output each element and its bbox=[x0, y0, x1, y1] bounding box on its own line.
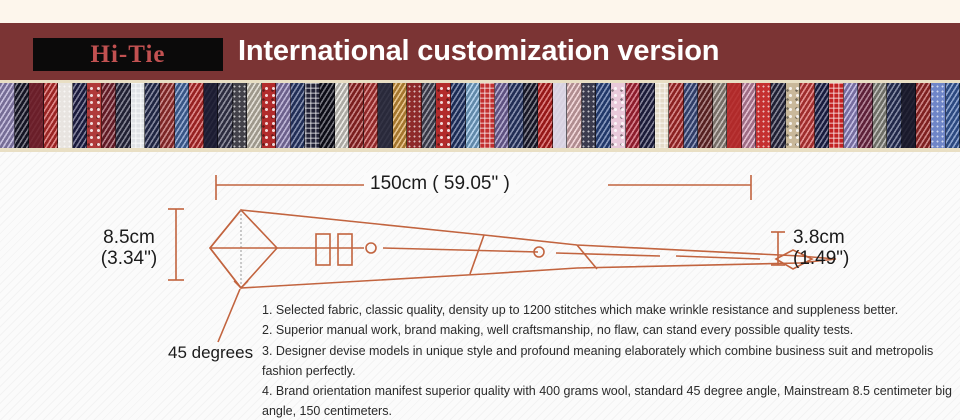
necktie-swatch bbox=[742, 83, 757, 148]
necktie-edge bbox=[610, 83, 611, 148]
tie-seam-mid bbox=[577, 245, 597, 269]
necktie-swatch bbox=[175, 83, 190, 148]
necktie-edge bbox=[377, 83, 378, 148]
necktie-swatch bbox=[524, 83, 539, 148]
feature-line: 3. Designer devise models in unique styl… bbox=[262, 341, 952, 382]
necktie-edge bbox=[232, 83, 233, 148]
feature-line: 1. Selected fabric, classic quality, den… bbox=[262, 300, 952, 320]
necktie-edge bbox=[595, 83, 596, 148]
necktie-photo-row bbox=[0, 83, 960, 148]
tie-center-axis-2 bbox=[383, 248, 538, 252]
page-title: International customization version bbox=[238, 35, 719, 68]
necktie-swatch bbox=[800, 83, 815, 148]
necktie-edge bbox=[639, 83, 640, 148]
feature-line: 2. Superior manual work, brand making, w… bbox=[262, 320, 952, 340]
necktie-swatch bbox=[931, 83, 946, 148]
necktie-swatch bbox=[0, 83, 15, 148]
tie-center-circle-1 bbox=[366, 243, 376, 253]
necktie-edge bbox=[435, 83, 436, 148]
necktie-swatch bbox=[946, 83, 960, 148]
angle-dimension-label: 45 degrees bbox=[168, 343, 253, 362]
necktie-swatch bbox=[131, 83, 146, 148]
necktie-edge bbox=[566, 83, 567, 148]
necktie-swatch bbox=[466, 83, 481, 148]
necktie-swatch bbox=[160, 83, 175, 148]
necktie-edge bbox=[915, 83, 916, 148]
necktie-edge bbox=[843, 83, 844, 148]
necktie-edge bbox=[872, 83, 873, 148]
necktie-edge bbox=[406, 83, 407, 148]
necktie-edge bbox=[217, 83, 218, 148]
necktie-edge bbox=[86, 83, 87, 148]
narrow-end-cm: 3.8cm bbox=[793, 227, 923, 248]
necktie-swatch bbox=[116, 83, 131, 148]
necktie-edge bbox=[174, 83, 175, 148]
angle-leader-line bbox=[218, 289, 240, 342]
necktie-swatch bbox=[887, 83, 902, 148]
necktie-edge bbox=[14, 83, 15, 148]
necktie-swatch bbox=[829, 83, 844, 148]
necktie-swatch bbox=[916, 83, 931, 148]
necktie-edge bbox=[930, 83, 931, 148]
necktie-edge bbox=[741, 83, 742, 148]
necktie-swatch bbox=[509, 83, 524, 148]
length-dimension-label: 150cm ( 59.05" ) bbox=[364, 173, 516, 194]
necktie-edge bbox=[581, 83, 582, 148]
necktie-swatch bbox=[596, 83, 611, 148]
wide-end-dimension-label: 8.5cm (3.34") bbox=[86, 227, 172, 270]
necktie-edge bbox=[494, 83, 495, 148]
tie-keeper-rect-1 bbox=[316, 234, 330, 265]
necktie-swatch bbox=[364, 83, 379, 148]
brand-logo-text: Hi-Tie bbox=[91, 42, 166, 67]
necktie-swatch bbox=[786, 83, 801, 148]
necktie-swatch bbox=[480, 83, 495, 148]
necktie-swatch bbox=[567, 83, 582, 148]
necktie-edge bbox=[799, 83, 800, 148]
necktie-edge bbox=[450, 83, 451, 148]
necktie-edge bbox=[537, 83, 538, 148]
necktie-swatch bbox=[291, 83, 306, 148]
feature-line: 4. Brand orientation manifest superior q… bbox=[262, 381, 952, 420]
necktie-edge bbox=[43, 83, 44, 148]
necktie-swatch bbox=[73, 83, 88, 148]
necktie-swatch bbox=[538, 83, 553, 148]
necktie-edge bbox=[28, 83, 29, 148]
necktie-edge bbox=[479, 83, 480, 148]
necktie-swatch bbox=[58, 83, 73, 148]
necktie-edge bbox=[246, 83, 247, 148]
necktie-edge bbox=[334, 83, 335, 148]
necktie-swatch bbox=[305, 83, 320, 148]
necktie-swatch bbox=[15, 83, 30, 148]
necktie-swatch bbox=[393, 83, 408, 148]
necktie-swatch bbox=[233, 83, 248, 148]
tie-upper-edge bbox=[241, 210, 800, 256]
necktie-swatch bbox=[582, 83, 597, 148]
necktie-swatch bbox=[756, 83, 771, 148]
necktie-edge bbox=[319, 83, 320, 148]
necktie-swatch bbox=[276, 83, 291, 148]
necktie-edge bbox=[290, 83, 291, 148]
wide-end-cm: 8.5cm bbox=[86, 227, 172, 248]
necktie-swatch bbox=[873, 83, 888, 148]
necktie-swatch bbox=[684, 83, 699, 148]
necktie-edge bbox=[785, 83, 786, 148]
tie-center-axis-3 bbox=[556, 253, 660, 256]
necktie-edge bbox=[508, 83, 509, 148]
necktie-edge bbox=[697, 83, 698, 148]
necktie-swatch bbox=[349, 83, 364, 148]
necktie-edge bbox=[130, 83, 131, 148]
necktie-swatch bbox=[407, 83, 422, 148]
necktie-edge bbox=[654, 83, 655, 148]
necktie-edge bbox=[901, 83, 902, 148]
product-banner-page: Hi-Tie International customization versi… bbox=[0, 0, 960, 420]
necktie-edge bbox=[945, 83, 946, 148]
necktie-swatch bbox=[495, 83, 510, 148]
necktie-edge bbox=[683, 83, 684, 148]
necktie-edge bbox=[392, 83, 393, 148]
wide-end-inch: (3.34") bbox=[86, 248, 172, 269]
tie-lower-edge bbox=[241, 263, 800, 288]
necktie-swatch bbox=[87, 83, 102, 148]
necktie-edge bbox=[523, 83, 524, 148]
necktie-edge bbox=[465, 83, 466, 148]
narrow-end-inch: (1.49") bbox=[793, 248, 923, 269]
necktie-edge bbox=[726, 83, 727, 148]
necktie-edge bbox=[115, 83, 116, 148]
necktie-collection-photo bbox=[0, 80, 960, 152]
necktie-swatch bbox=[44, 83, 59, 148]
tie-seam-left bbox=[470, 235, 484, 274]
necktie-swatch bbox=[422, 83, 437, 148]
necktie-swatch bbox=[262, 83, 277, 148]
necktie-edge bbox=[261, 83, 262, 148]
necktie-edge bbox=[57, 83, 58, 148]
necktie-swatch bbox=[771, 83, 786, 148]
necktie-edge bbox=[625, 83, 626, 148]
tie-center-axis-4 bbox=[676, 256, 760, 259]
necktie-swatch bbox=[29, 83, 44, 148]
necktie-swatch bbox=[451, 83, 466, 148]
necktie-edge bbox=[770, 83, 771, 148]
necktie-swatch bbox=[436, 83, 451, 148]
necktie-swatch bbox=[378, 83, 393, 148]
necktie-swatch bbox=[145, 83, 160, 148]
necktie-edge bbox=[363, 83, 364, 148]
necktie-edge bbox=[814, 83, 815, 148]
necktie-edge bbox=[886, 83, 887, 148]
necktie-edge bbox=[144, 83, 145, 148]
necktie-swatch bbox=[844, 83, 859, 148]
necktie-swatch bbox=[626, 83, 641, 148]
product-features-list: 1. Selected fabric, classic quality, den… bbox=[262, 300, 952, 420]
narrow-end-dimension-label: 3.8cm (1.49") bbox=[793, 227, 923, 270]
necktie-edge bbox=[188, 83, 189, 148]
necktie-edge bbox=[304, 83, 305, 148]
necktie-swatch bbox=[189, 83, 204, 148]
top-cream-strip bbox=[0, 0, 960, 23]
necktie-edge bbox=[828, 83, 829, 148]
necktie-swatch bbox=[102, 83, 117, 148]
tie-wide-tip-outline bbox=[210, 210, 241, 288]
necktie-edge bbox=[421, 83, 422, 148]
necktie-edge bbox=[348, 83, 349, 148]
necktie-swatch bbox=[727, 83, 742, 148]
necktie-edge bbox=[203, 83, 204, 148]
necktie-swatch bbox=[553, 83, 568, 148]
tie-keeper-rect-2 bbox=[338, 234, 352, 265]
necktie-edge bbox=[712, 83, 713, 148]
necktie-swatch bbox=[858, 83, 873, 148]
necktie-edge bbox=[72, 83, 73, 148]
necktie-swatch bbox=[247, 83, 262, 148]
necktie-edge bbox=[159, 83, 160, 148]
necktie-swatch bbox=[204, 83, 219, 148]
necktie-swatch bbox=[815, 83, 830, 148]
necktie-swatch bbox=[713, 83, 728, 148]
necktie-swatch bbox=[655, 83, 670, 148]
necktie-edge bbox=[275, 83, 276, 148]
tie-wide-tip-diamond bbox=[210, 210, 277, 288]
brand-logo-box: Hi-Tie bbox=[33, 38, 223, 71]
necktie-edge bbox=[668, 83, 669, 148]
necktie-swatch bbox=[218, 83, 233, 148]
necktie-swatch bbox=[335, 83, 350, 148]
necktie-swatch bbox=[669, 83, 684, 148]
necktie-edge bbox=[101, 83, 102, 148]
necktie-swatch bbox=[611, 83, 626, 148]
necktie-swatch bbox=[640, 83, 655, 148]
necktie-swatch bbox=[698, 83, 713, 148]
necktie-swatch bbox=[320, 83, 335, 148]
necktie-edge bbox=[857, 83, 858, 148]
necktie-edge bbox=[755, 83, 756, 148]
necktie-swatch bbox=[902, 83, 917, 148]
necktie-edge bbox=[552, 83, 553, 148]
header-banner: Hi-Tie International customization versi… bbox=[0, 23, 960, 80]
